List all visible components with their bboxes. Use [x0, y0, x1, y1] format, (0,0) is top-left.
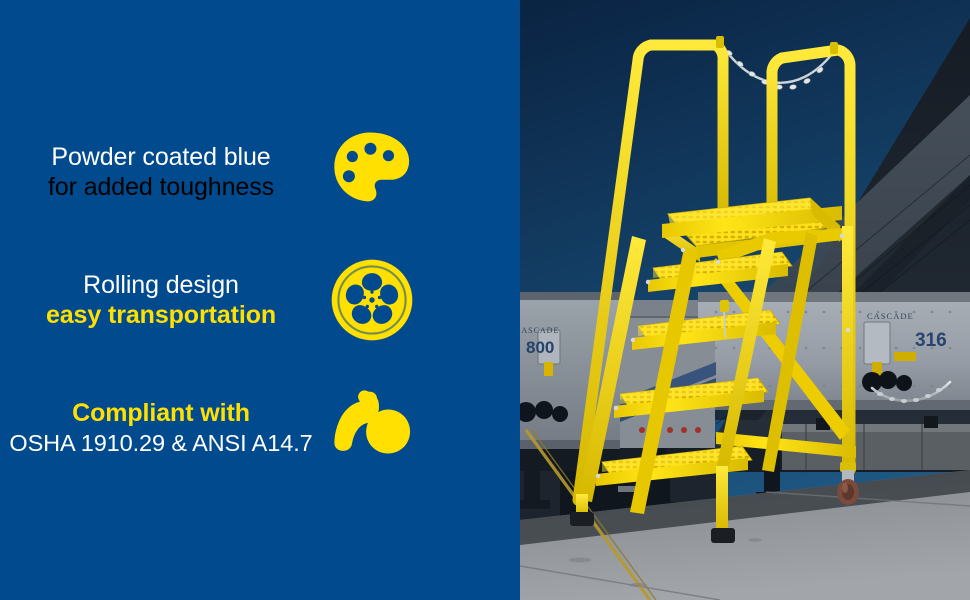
feature-row-rolling-design: Rolling design easy transportation: [0, 236, 520, 364]
feature-line-2: for added toughness: [0, 172, 322, 203]
feature-text-compliance: Compliant with OSHA 1910.29 & ANSI A14.7: [0, 398, 330, 457]
feature-line-2-emphasis: easy transportation: [0, 300, 322, 331]
feature-line-2-prefix: for: [48, 173, 84, 201]
feature-icon-slot: [330, 384, 450, 472]
feature-text-rolling-design: Rolling design easy transportation: [0, 270, 330, 331]
feature-icon-slot: [330, 129, 450, 215]
feature-banner: Powder coated blue for added toughness R…: [0, 0, 970, 600]
feature-line-2-emphasis: OSHA 1910.29 & ANSI A14.7: [0, 429, 322, 458]
feature-line-1: Powder coated blue: [0, 142, 322, 173]
wheel-icon: [330, 258, 414, 342]
feature-row-compliance: Compliant with OSHA 1910.29 & ANSI A14.7: [0, 364, 520, 492]
paint-palette-icon: [330, 129, 416, 215]
feature-line-1: Compliant with: [0, 398, 322, 429]
product-photo-image: [520, 0, 970, 600]
feature-line-1: Rolling design: [0, 270, 322, 301]
feature-text-powder-coated: Powder coated blue for added toughness: [0, 142, 330, 203]
feature-icon-slot: [330, 258, 450, 342]
feature-line-2-emphasis: added toughness: [84, 173, 274, 201]
feature-row-powder-coated: Powder coated blue for added toughness: [0, 108, 520, 236]
product-photo: CASCADE 316 CASCADE 800: [520, 0, 970, 600]
features-panel: Powder coated blue for added toughness R…: [0, 0, 520, 600]
flexed-bicep-icon: [330, 384, 418, 472]
